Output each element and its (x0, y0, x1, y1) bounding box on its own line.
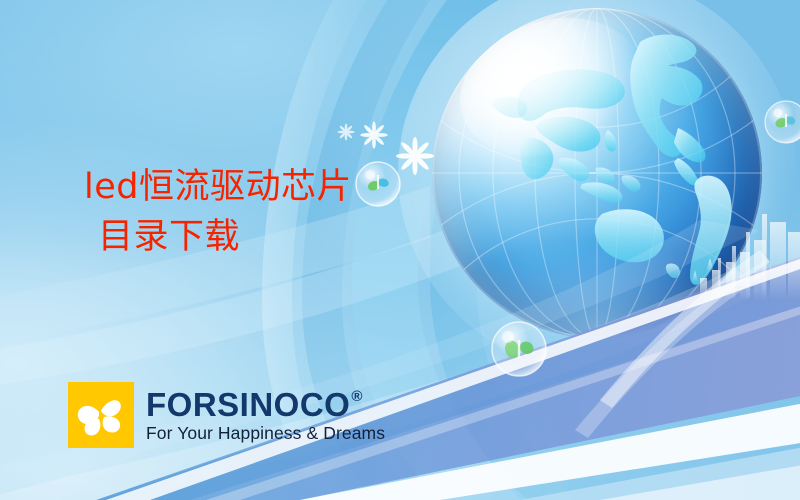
bubble-center (492, 322, 546, 376)
registered-trademark-icon: ® (351, 389, 363, 404)
bubble-right (765, 101, 800, 143)
brand-tagline: For Your Happiness & Dreams (146, 425, 385, 443)
brand-text: FORSINOCO ® For Your Happiness & Dreams (146, 388, 385, 443)
page-title-line-1: led恒流驱动芯片 (84, 163, 514, 213)
four-petal-pinwheel-icon (68, 382, 134, 448)
page-title: led恒流驱动芯片 目录下载 (84, 163, 514, 262)
brand-wordmark: FORSINOCO ® (146, 388, 385, 421)
poster-canvas: led恒流驱动芯片 目录下载 FORSINOCO ® (0, 0, 800, 500)
brand-wordmark-text: FORSINOCO (146, 388, 350, 421)
page-title-line-2: 目录下载 (84, 213, 514, 263)
brand-logo: FORSINOCO ® For Your Happiness & Dreams (68, 382, 385, 448)
